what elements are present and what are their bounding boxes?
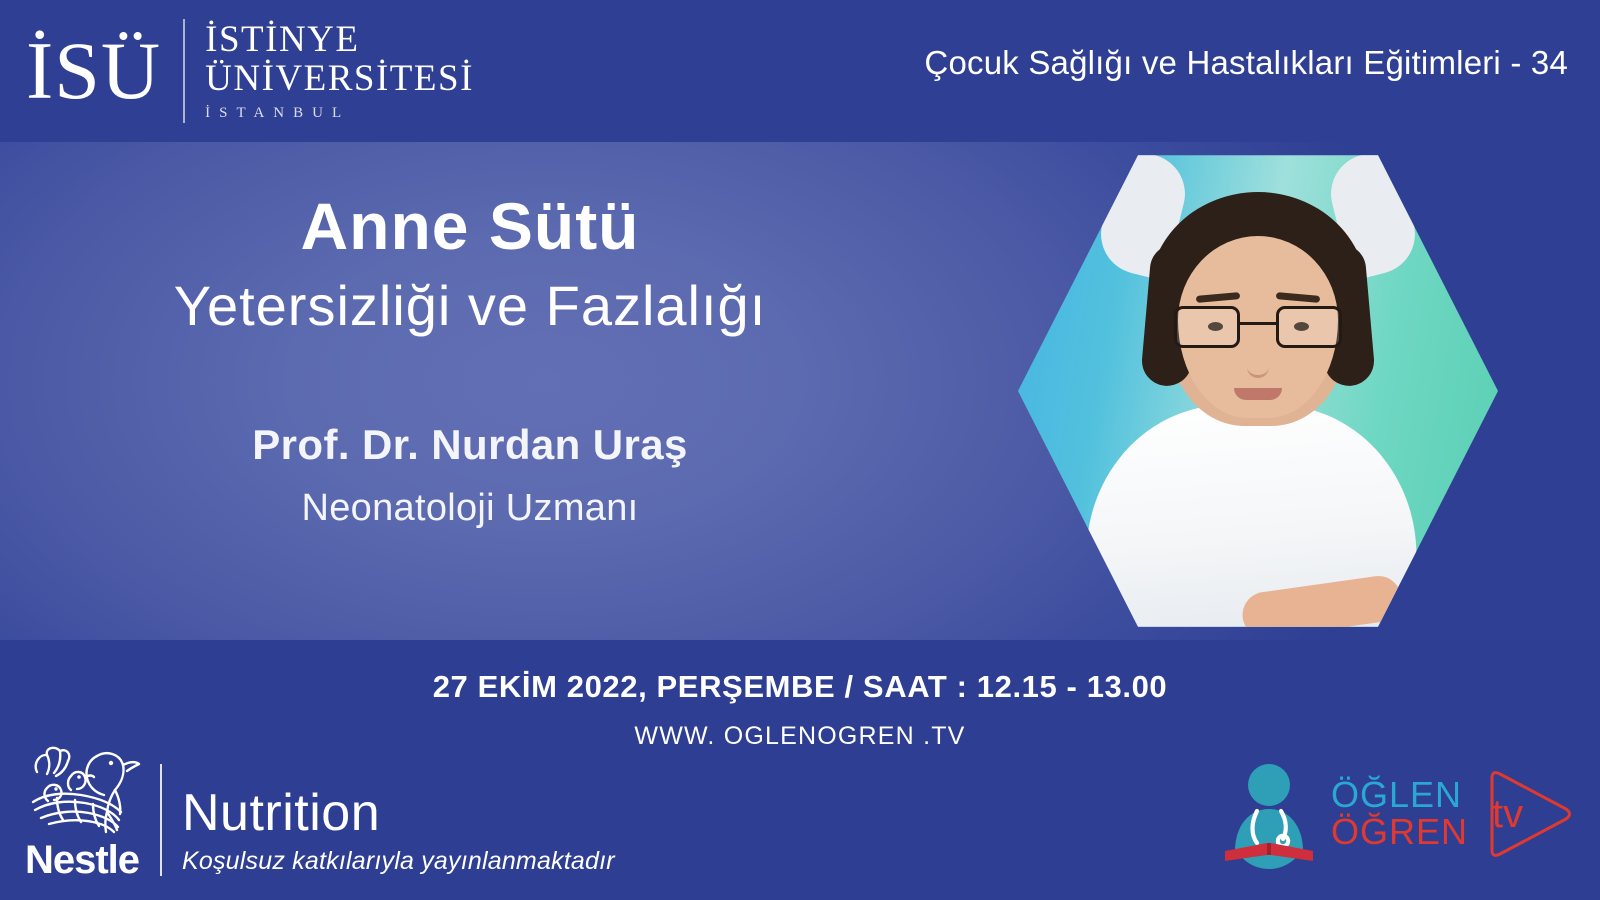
broadcaster-play-badge: tv bbox=[1474, 762, 1578, 866]
event-poster: İSÜ İSTİNYE ÜNİVERSİTESİ İSTANBUL Çocuk … bbox=[0, 0, 1600, 900]
speaker-name: Prof. Dr. Nurdan Uraş bbox=[0, 421, 940, 469]
nestle-wordmark: Nestle bbox=[25, 840, 139, 880]
sponsor-divider bbox=[160, 764, 162, 876]
speaker-portrait-photo bbox=[1018, 148, 1498, 634]
speaker-portrait-hexagon bbox=[1018, 148, 1498, 634]
university-city: İSTANBUL bbox=[205, 105, 474, 122]
portrait-eyeglasses bbox=[1174, 306, 1342, 352]
broadcaster-wordmark: ÖĞLEN ÖĞREN bbox=[1331, 777, 1468, 850]
university-name-line2: ÜNİVERSİTESİ bbox=[205, 59, 474, 98]
eyeglass-lens-right bbox=[1276, 306, 1342, 348]
nestle-mark: Nestle bbox=[14, 742, 150, 880]
broadcaster-logo[interactable]: ÖĞLEN ÖĞREN tv bbox=[1217, 748, 1578, 880]
lecture-title-secondary: Yetersizliği ve Fazlalığı bbox=[0, 273, 940, 339]
sponsor-text-block: Nutrition Koşulsuz katkılarıyla yayınlan… bbox=[182, 787, 615, 880]
eyeglass-lens-left bbox=[1174, 306, 1240, 348]
university-logo-mark: İSÜ bbox=[26, 32, 183, 110]
play-triangle-icon bbox=[1474, 762, 1578, 866]
broadcaster-line1: ÖĞLEN bbox=[1331, 777, 1468, 814]
broadcaster-tv-label: tv bbox=[1492, 794, 1523, 834]
main-content: Anne Sütü Yetersizliği ve Fazlalığı Prof… bbox=[0, 190, 940, 530]
speaker-role: Neonatoloji Uzmanı bbox=[0, 487, 940, 530]
university-logo: İSÜ İSTİNYE ÜNİVERSİTESİ İSTANBUL bbox=[26, 12, 474, 130]
university-logo-wordmark: İSTİNYE ÜNİVERSİTESİ İSTANBUL bbox=[205, 20, 474, 122]
broadcaster-line2: ÖĞREN bbox=[1331, 814, 1468, 851]
logo-divider bbox=[183, 19, 185, 123]
nestle-birds-nest-icon bbox=[23, 742, 141, 838]
doctor-with-book-icon bbox=[1217, 759, 1321, 869]
series-title: Çocuk Sağlığı ve Hastalıkları Eğitimleri… bbox=[924, 44, 1568, 82]
event-datetime: 27 EKİM 2022, PERŞEMBE / SAAT : 12.15 - … bbox=[0, 669, 1600, 705]
university-name-line1: İSTİNYE bbox=[205, 20, 474, 59]
sponsor-division: Nutrition bbox=[182, 787, 615, 839]
portrait-nose bbox=[1247, 352, 1269, 378]
sponsor-tagline: Koşulsuz katkılarıyla yayınlanmaktadır bbox=[182, 847, 615, 876]
lecture-title-primary: Anne Sütü bbox=[0, 190, 940, 263]
portrait-mouth bbox=[1234, 388, 1282, 400]
eyeglass-bridge bbox=[1240, 322, 1276, 325]
sponsor-logo-nestle: Nestle Nutrition Koşulsuz katkılarıyla y… bbox=[14, 742, 615, 880]
